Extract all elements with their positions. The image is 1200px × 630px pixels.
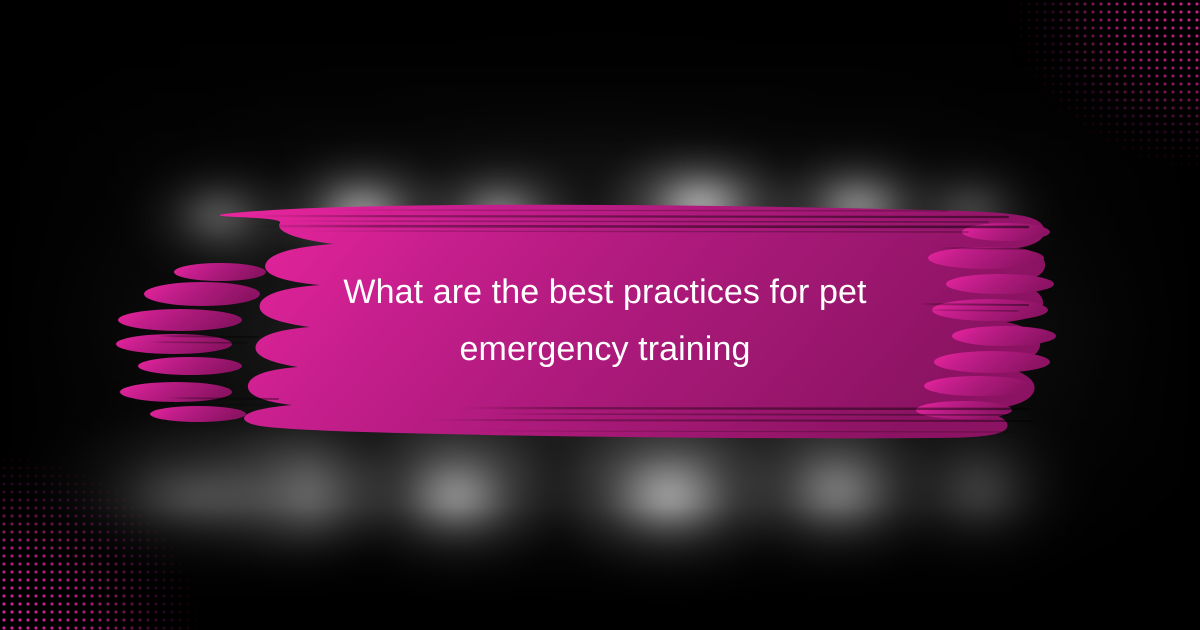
- headline-text: What are the best practices for pet emer…: [190, 264, 1020, 378]
- share-card: What are the best practices for pet emer…: [0, 0, 1200, 630]
